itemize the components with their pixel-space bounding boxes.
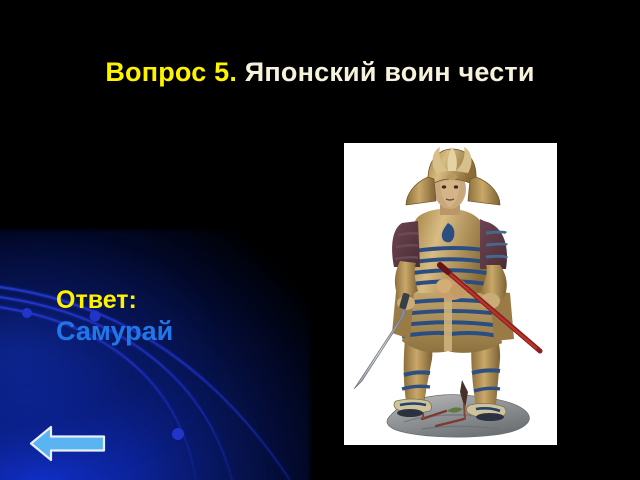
question-label: Вопрос 5. xyxy=(105,57,237,87)
back-arrow-icon[interactable] xyxy=(29,423,106,464)
answer-block: Ответ: Самурай xyxy=(56,286,173,347)
illustration-frame xyxy=(344,143,557,445)
samurai-figure-image xyxy=(344,143,557,445)
quiz-slide: Вопрос 5. Японский воин чести Ответ: Сам… xyxy=(0,0,640,480)
slide-title: Вопрос 5. Японский воин чести xyxy=(0,57,640,88)
answer-value: Самурай xyxy=(56,316,173,348)
question-text: Японский воин чести xyxy=(245,57,535,87)
answer-label: Ответ: xyxy=(56,286,173,316)
back-button[interactable] xyxy=(29,423,106,464)
